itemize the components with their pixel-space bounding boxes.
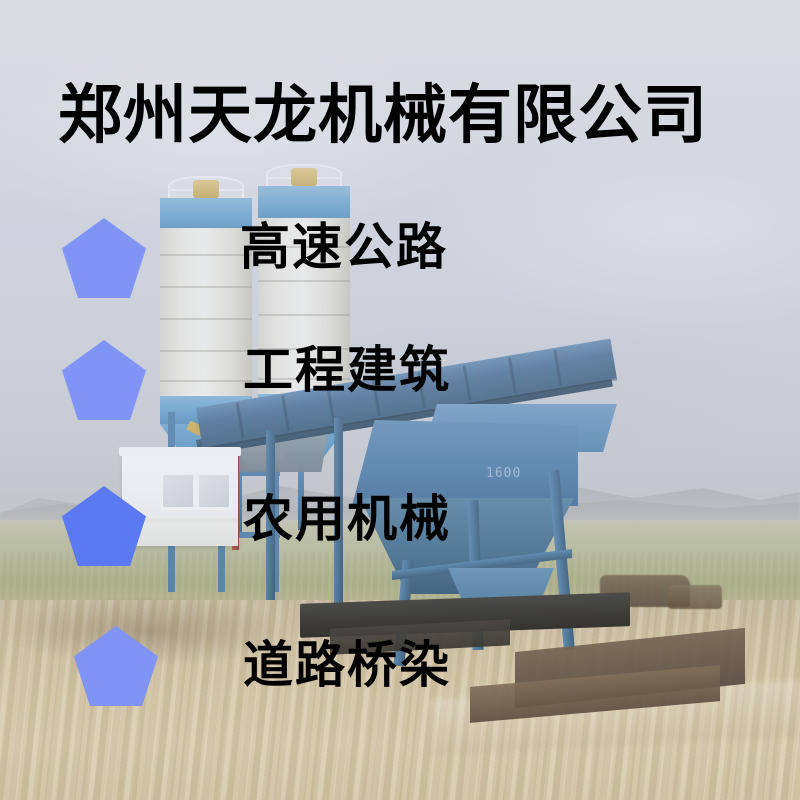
feature-label: 道路桥染 <box>243 640 451 690</box>
feature-label: 工程建筑 <box>243 345 451 395</box>
feature-label: 高速公路 <box>240 222 448 272</box>
product-banner: 1600 郑州天龙机械有限公司 高速公路 工程建筑 农用机械 <box>0 0 800 800</box>
company-title: 郑州天龙机械有限公司 <box>58 84 708 148</box>
feature-label: 农用机械 <box>243 494 451 544</box>
